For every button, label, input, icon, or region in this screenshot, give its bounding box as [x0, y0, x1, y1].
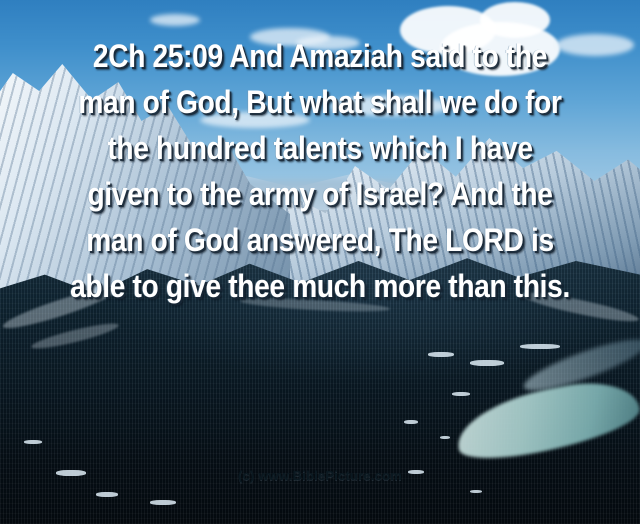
snow-patch — [96, 492, 118, 497]
snow-patch — [428, 352, 454, 357]
snow-patch — [404, 420, 418, 424]
snow-patch — [440, 436, 450, 439]
cloud — [556, 34, 634, 56]
snow-patch — [520, 344, 560, 349]
cloud — [150, 14, 200, 26]
snow-patch — [470, 360, 504, 366]
cloud — [330, 96, 450, 116]
footer-watermark: (c) www.BiblePicture.com — [0, 468, 640, 483]
snow-patch — [470, 490, 482, 493]
cloud — [480, 2, 550, 38]
cloud — [296, 36, 360, 50]
cloud — [200, 112, 310, 128]
snow-patch — [24, 440, 42, 444]
background-photograph — [0, 0, 640, 524]
snow-patch — [150, 500, 176, 505]
bible-verse-image: 2Ch 25:09 And Amaziah said to the man of… — [0, 0, 640, 524]
snow-patch — [452, 392, 470, 396]
